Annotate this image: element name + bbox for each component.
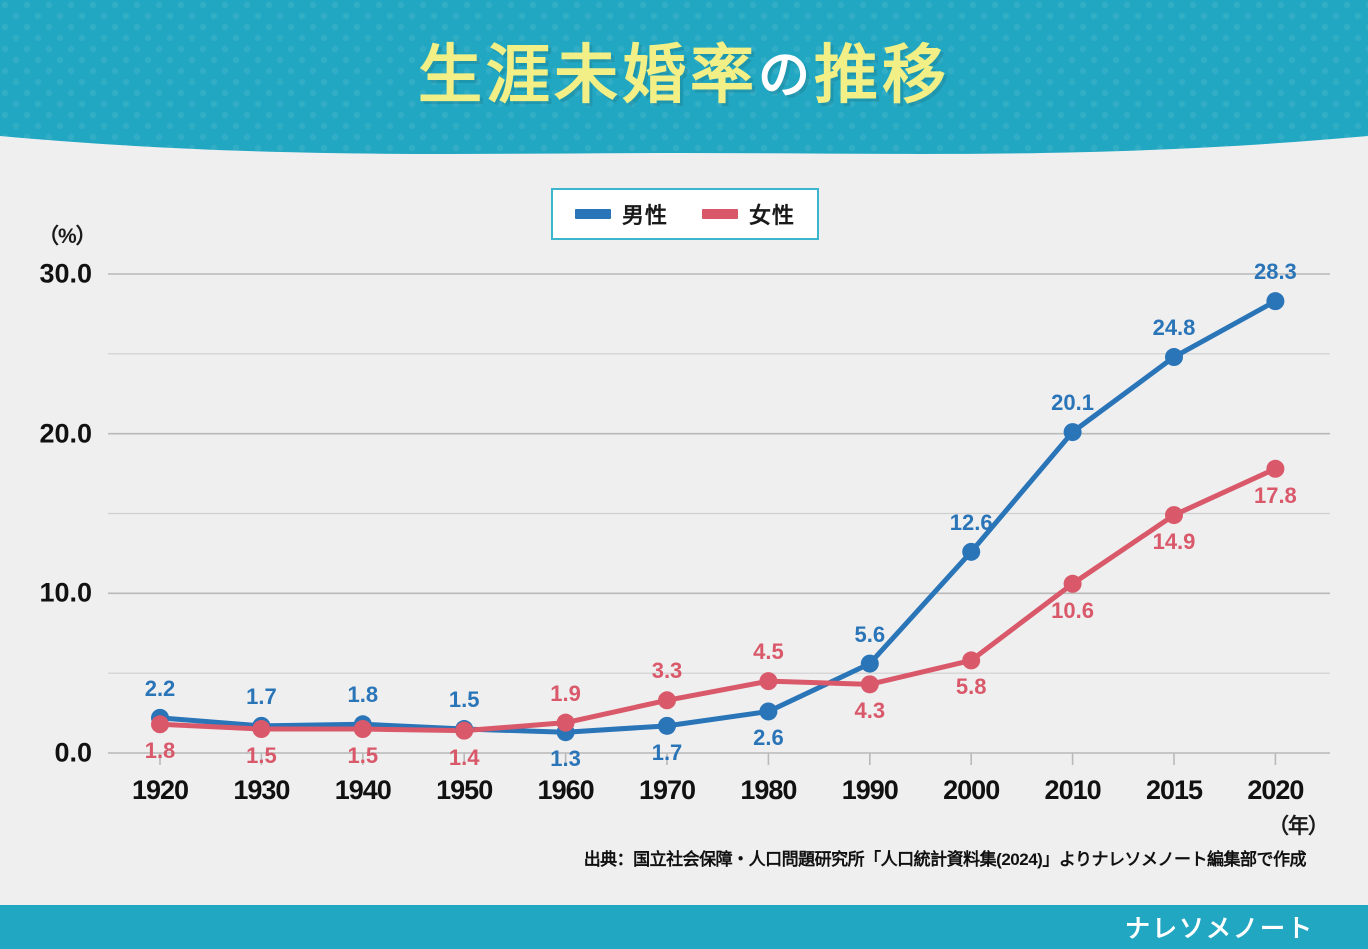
value-label-female-1920: 1.8 <box>125 738 195 764</box>
value-label-male-2015: 24.8 <box>1139 315 1209 341</box>
value-label-female-1950: 1.4 <box>429 745 499 771</box>
series-line-male <box>160 301 1275 732</box>
data-point-female-1970 <box>658 691 676 709</box>
value-label-female-1960: 1.9 <box>531 681 601 707</box>
data-point-female-1950 <box>455 722 473 740</box>
x-axis-tick-2020: 2020 <box>1220 775 1330 806</box>
data-point-female-1920 <box>151 715 169 733</box>
page-title-part2: 推移 <box>814 24 950 116</box>
data-point-male-1970 <box>658 717 676 735</box>
page-header: 生涯未婚率の推移 <box>0 0 1368 160</box>
data-point-female-2015 <box>1165 506 1183 524</box>
y-axis-tick-30: 30.0 <box>0 259 92 290</box>
value-label-male-1920: 2.2 <box>125 676 195 702</box>
x-axis-tick-2010: 2010 <box>1018 775 1128 806</box>
data-point-male-2015 <box>1165 348 1183 366</box>
x-axis-tick-1950: 1950 <box>409 775 519 806</box>
value-label-male-1950: 1.5 <box>429 687 499 713</box>
value-label-male-1990: 5.6 <box>835 622 905 648</box>
value-label-female-2000: 5.8 <box>936 674 1006 700</box>
data-point-male-2000 <box>962 543 980 561</box>
y-axis-tick-10: 10.0 <box>0 578 92 609</box>
x-axis-tick-1920: 1920 <box>105 775 215 806</box>
value-label-female-1980: 4.5 <box>733 639 803 665</box>
value-label-male-1970: 1.7 <box>632 740 702 766</box>
value-label-male-2020: 28.3 <box>1240 259 1310 285</box>
plot-area: 0.010.020.030.01920193019401950196019701… <box>0 160 1368 900</box>
value-label-female-2010: 10.6 <box>1038 598 1108 624</box>
page-title-part1: 生涯未婚率 <box>418 24 758 116</box>
data-point-male-1980 <box>759 702 777 720</box>
data-point-female-1960 <box>557 714 575 732</box>
page-title: 生涯未婚率の推移 <box>0 0 1368 140</box>
brand-logo: ナレソメノート <box>1125 905 1314 949</box>
data-point-male-2020 <box>1266 292 1284 310</box>
x-axis-tick-2015: 2015 <box>1119 775 1229 806</box>
data-point-female-2020 <box>1266 460 1284 478</box>
x-axis-tick-1970: 1970 <box>612 775 722 806</box>
value-label-male-2000: 12.6 <box>936 510 1006 536</box>
x-axis-tick-1990: 1990 <box>815 775 925 806</box>
value-label-female-1990: 4.3 <box>835 698 905 724</box>
data-point-female-2010 <box>1064 575 1082 593</box>
value-label-male-1960: 1.3 <box>531 746 601 772</box>
data-point-female-2000 <box>962 651 980 669</box>
x-axis-tick-1980: 1980 <box>713 775 823 806</box>
data-point-female-1930 <box>252 720 270 738</box>
value-label-male-1980: 2.6 <box>733 725 803 751</box>
data-point-male-1990 <box>861 655 879 673</box>
value-label-male-1930: 1.7 <box>226 684 296 710</box>
page-title-no: の <box>758 33 814 108</box>
x-axis-tick-2000: 2000 <box>916 775 1026 806</box>
y-axis-tick-20: 20.0 <box>0 418 92 449</box>
x-axis-tick-1960: 1960 <box>511 775 621 806</box>
page-footer: ナレソメノート <box>0 905 1368 949</box>
value-label-male-1940: 1.8 <box>328 682 398 708</box>
data-point-female-1980 <box>759 672 777 690</box>
value-label-female-2015: 14.9 <box>1139 529 1209 555</box>
value-label-female-1940: 1.5 <box>328 743 398 769</box>
data-point-female-1990 <box>861 675 879 693</box>
value-label-male-2010: 20.1 <box>1038 390 1108 416</box>
x-axis-tick-1940: 1940 <box>308 775 418 806</box>
chart-container: 男性 女性 （%） （年） 0.010.020.030.019201930194… <box>0 160 1368 900</box>
data-point-male-2010 <box>1064 423 1082 441</box>
data-point-female-1940 <box>354 720 372 738</box>
value-label-female-1930: 1.5 <box>226 743 296 769</box>
y-axis-tick-0: 0.0 <box>0 738 92 769</box>
value-label-female-2020: 17.8 <box>1240 483 1310 509</box>
value-label-female-1970: 3.3 <box>632 658 702 684</box>
x-axis-tick-1930: 1930 <box>206 775 316 806</box>
source-note: 出典：国立社会保障・人口問題研究所「人口統計資料集(2024)」よりナレソメノー… <box>0 845 1368 870</box>
